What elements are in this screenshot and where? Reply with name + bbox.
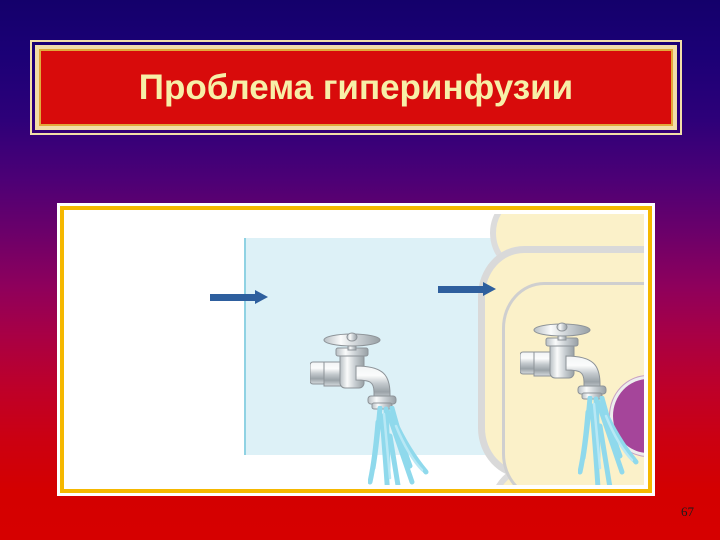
arrow-shaft bbox=[210, 294, 256, 301]
water-influx-arrow-right-icon bbox=[438, 282, 496, 296]
faucet-right-icon bbox=[520, 322, 638, 402]
slide-canvas: Проблема гиперинфузии bbox=[0, 0, 720, 540]
title-banner-fill: Проблема гиперинфузии bbox=[35, 45, 677, 130]
page-title: Проблема гиперинфузии bbox=[139, 70, 573, 105]
water-influx-arrow-left-icon bbox=[210, 290, 268, 304]
arrow-shaft bbox=[438, 286, 484, 293]
figure-canvas bbox=[68, 214, 644, 485]
arrow-head bbox=[255, 290, 268, 304]
figure-panel-border bbox=[60, 206, 652, 493]
faucet-left-icon bbox=[310, 332, 428, 412]
water-spray-left-icon bbox=[368, 406, 438, 485]
arrow-head bbox=[483, 282, 496, 296]
figure-panel bbox=[57, 203, 655, 496]
page-number: 67 bbox=[681, 504, 694, 520]
water-spray-right-icon bbox=[578, 396, 644, 485]
title-banner: Проблема гиперинфузии bbox=[30, 40, 682, 135]
